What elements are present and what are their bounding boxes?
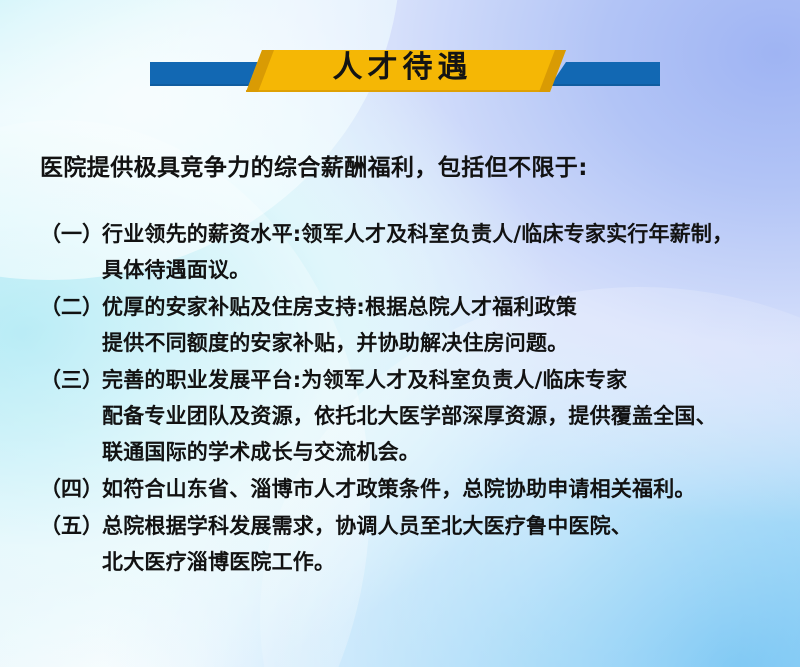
page-title: 人才待遇 — [0, 36, 800, 100]
list-item: （三） 完善的职业发展平台:为领军人才及科室负责人/临床专家 配备专业团队及资源… — [40, 362, 780, 470]
list-item-line: 联通国际的学术成长与交流机会。 — [102, 434, 780, 470]
list-item-line: 具体待遇面议。 — [102, 252, 780, 288]
list-item-marker: （一） — [40, 216, 102, 252]
slide-canvas: 人才待遇 医院提供极具竞争力的综合薪酬福利，包括但不限于: （一） 行业领先的薪… — [0, 0, 800, 667]
list-item-line: 完善的职业发展平台:为领军人才及科室负责人/临床专家 — [102, 362, 780, 398]
list-item-line: 如符合山东省、淄博市人才政策条件，总院协助申请相关福利。 — [102, 471, 780, 507]
benefits-list: （一） 行业领先的薪资水平:领军人才及科室负责人/临床专家实行年薪制， 具体待遇… — [40, 216, 780, 581]
lead-paragraph: 医院提供极具竞争力的综合薪酬福利，包括但不限于: — [40, 148, 760, 182]
list-item-marker: （五） — [40, 508, 102, 544]
list-item-body: 总院根据学科发展需求，协调人员至北大医疗鲁中医院、 北大医疗淄博医院工作。 — [102, 508, 780, 580]
list-item-marker: （三） — [40, 362, 102, 398]
list-item-marker: （四） — [40, 471, 102, 507]
list-item: （四） 如符合山东省、淄博市人才政策条件，总院协助申请相关福利。 — [40, 471, 780, 507]
list-item-body: 如符合山东省、淄博市人才政策条件，总院协助申请相关福利。 — [102, 471, 780, 507]
list-item-line: 优厚的安家补贴及住房支持:根据总院人才福利政策 — [102, 289, 780, 325]
list-item: （一） 行业领先的薪资水平:领军人才及科室负责人/临床专家实行年薪制， 具体待遇… — [40, 216, 780, 288]
list-item-line: 总院根据学科发展需求，协调人员至北大医疗鲁中医院、 — [102, 508, 780, 544]
list-item-line: 配备专业团队及资源，依托北大医学部深厚资源，提供覆盖全国、 — [102, 398, 780, 434]
list-item-body: 行业领先的薪资水平:领军人才及科室负责人/临床专家实行年薪制， 具体待遇面议。 — [102, 216, 780, 288]
list-item-line: 行业领先的薪资水平:领军人才及科室负责人/临床专家实行年薪制， — [102, 216, 780, 252]
list-item: （二） 优厚的安家补贴及住房支持:根据总院人才福利政策 提供不同额度的安家补贴，… — [40, 289, 780, 361]
list-item-body: 优厚的安家补贴及住房支持:根据总院人才福利政策 提供不同额度的安家补贴，并协助解… — [102, 289, 780, 361]
list-item-line: 提供不同额度的安家补贴，并协助解决住房问题。 — [102, 325, 780, 361]
list-item-marker: （二） — [40, 289, 102, 325]
list-item-body: 完善的职业发展平台:为领军人才及科室负责人/临床专家 配备专业团队及资源，依托北… — [102, 362, 780, 470]
list-item-line: 北大医疗淄博医院工作。 — [102, 544, 780, 580]
list-item: （五） 总院根据学科发展需求，协调人员至北大医疗鲁中医院、 北大医疗淄博医院工作… — [40, 508, 780, 580]
